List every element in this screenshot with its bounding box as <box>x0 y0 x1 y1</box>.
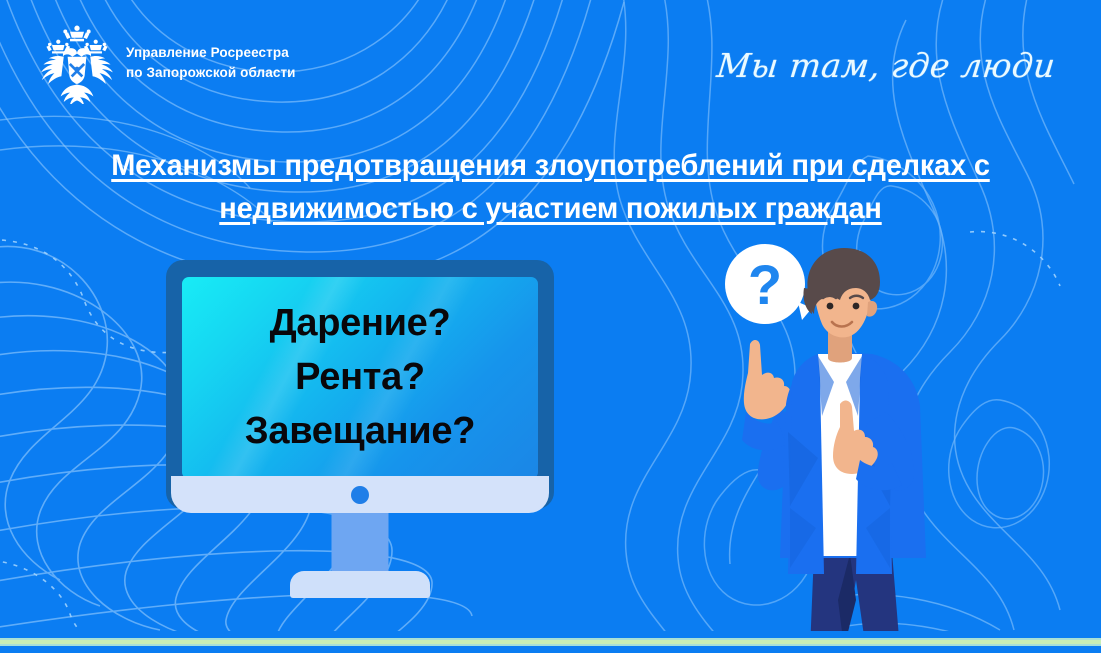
poster-canvas: Управление Росреестра по Запорожской обл… <box>0 0 1101 653</box>
screen-line-1: Дарение? <box>270 297 451 351</box>
header: Управление Росреестра по Запорожской обл… <box>0 0 1101 125</box>
question-bubble-icon: ? <box>725 244 812 324</box>
bottom-stripe <box>0 631 1101 653</box>
monitor-stand-neck <box>332 513 389 575</box>
slogan: Мы там, где люди <box>715 46 1057 85</box>
monitor-frame: Дарение? Рента? Завещание? <box>166 260 554 509</box>
page-title-text: Механизмы предотвращения злоупотреблений… <box>111 149 990 225</box>
page-title: Механизмы предотвращения злоупотреблений… <box>19 145 1081 230</box>
monitor-stand-base <box>290 571 430 598</box>
accent-stripe <box>0 638 1101 646</box>
brand-logo-block: Управление Росреестра по Запорожской обл… <box>38 22 296 104</box>
left-hand <box>744 340 791 419</box>
monitor-illustration: Дарение? Рента? Завещание? <box>166 260 554 509</box>
screen-line-3: Завещание? <box>245 405 475 459</box>
org-name: Управление Росреестра по Запорожской обл… <box>126 43 296 81</box>
svg-text:?: ? <box>748 253 782 316</box>
rosreestr-eagle-icon <box>38 22 116 104</box>
man-pointing-illustration: ? <box>690 236 990 653</box>
monitor-screen: Дарение? Рента? Завещание? <box>182 277 538 479</box>
power-indicator-icon <box>351 486 369 504</box>
screen-line-2: Рента? <box>295 351 425 405</box>
